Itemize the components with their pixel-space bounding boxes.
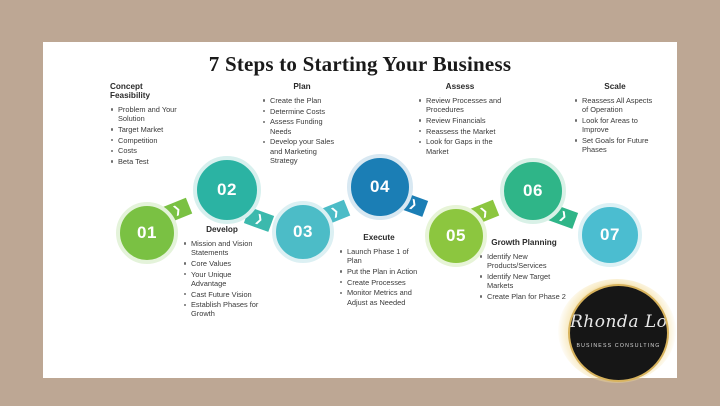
step-bullets-01: Problem and Your Solution Target Market … bbox=[110, 105, 182, 166]
list-item: Create Processes bbox=[339, 278, 419, 287]
chevron-right-icon: ❯ bbox=[330, 207, 340, 219]
step-column-06: Growth Planning Identify New Products/Se… bbox=[479, 238, 569, 303]
list-item: Develop your Sales and Marketing Strateg… bbox=[262, 137, 342, 165]
list-item: Target Market bbox=[110, 125, 182, 134]
page-title: 7 Steps to Starting Your Business bbox=[43, 52, 677, 77]
step-circle-01[interactable]: 01 bbox=[116, 202, 178, 264]
list-item: Establish Phases for Growth bbox=[183, 300, 261, 318]
logo-tagline: BUSINESS CONSULTING bbox=[570, 343, 667, 349]
step-heading-04: Execute bbox=[339, 233, 419, 242]
step-heading-06: Growth Planning bbox=[479, 238, 569, 247]
list-item: Cast Future Vision bbox=[183, 290, 261, 299]
step-column-03: Plan Create the Plan Determine Costs Ass… bbox=[262, 82, 342, 166]
list-item: Review Processes and Procedures bbox=[418, 96, 502, 114]
list-item: Review Financials bbox=[418, 116, 502, 125]
step-circle-03[interactable]: 03 bbox=[272, 201, 334, 263]
step-circle-02[interactable]: 02 bbox=[193, 156, 261, 224]
step-bullets-05: Review Processes and Procedures Review F… bbox=[418, 96, 502, 156]
list-item: Your Unique Advantage bbox=[183, 270, 261, 288]
step-circle-05[interactable]: 05 bbox=[425, 205, 487, 267]
list-item: Look for Gaps in the Market bbox=[418, 137, 502, 155]
step-column-07: Scale Reassess All Aspects of Operation … bbox=[574, 82, 656, 156]
list-item: Problem and Your Solution bbox=[110, 105, 182, 123]
step-heading-03: Plan bbox=[262, 82, 342, 91]
step-column-02: Develop Mission and Vision Statements Co… bbox=[183, 225, 261, 320]
chevron-right-icon: ❯ bbox=[254, 214, 264, 226]
list-item: Assess Funding Needs bbox=[262, 117, 342, 135]
step-heading-07: Scale bbox=[574, 82, 656, 91]
list-item: Launch Phase 1 of Plan bbox=[339, 247, 419, 265]
list-item: Mission and Vision Statements bbox=[183, 239, 261, 257]
chevron-right-icon: ❯ bbox=[558, 211, 568, 223]
list-item: Monitor Metrics and Adjust as Needed bbox=[339, 288, 419, 306]
logo-name: Rhonda Lowe bbox=[570, 312, 667, 332]
step-circle-04[interactable]: 04 bbox=[347, 154, 413, 220]
list-item: Identify New Target Markets bbox=[479, 272, 569, 290]
slide-canvas: 7 Steps to Starting Your Business Concep… bbox=[0, 0, 720, 406]
step-column-05: Assess Review Processes and Procedures R… bbox=[418, 82, 502, 157]
chevron-right-icon: ❯ bbox=[172, 205, 182, 217]
list-item: Reassess All Aspects of Operation bbox=[574, 96, 656, 114]
step-bullets-06: Identify New Products/Services Identify … bbox=[479, 252, 569, 301]
list-item: Set Goals for Future Phases bbox=[574, 136, 656, 154]
list-item: Put the Plan in Action bbox=[339, 267, 419, 276]
list-item: Competition bbox=[110, 136, 182, 145]
logo-disc: Rhonda Lowe BUSINESS CONSULTING bbox=[568, 284, 669, 382]
step-heading-05: Assess bbox=[418, 82, 502, 91]
list-item: Look for Areas to Improve bbox=[574, 116, 656, 134]
step-heading-02: Develop bbox=[183, 225, 261, 234]
list-item: Determine Costs bbox=[262, 107, 342, 116]
list-item: Identify New Products/Services bbox=[479, 252, 569, 270]
step-bullets-07: Reassess All Aspects of Operation Look f… bbox=[574, 96, 656, 154]
step-bullets-04: Launch Phase 1 of Plan Put the Plan in A… bbox=[339, 247, 419, 307]
list-item: Costs bbox=[110, 146, 182, 155]
step-column-01: Concept Feasibility Problem and Your Sol… bbox=[110, 82, 182, 168]
step-heading-01: Concept Feasibility bbox=[110, 82, 182, 100]
step-bullets-02: Mission and Vision Statements Core Value… bbox=[183, 239, 261, 319]
brand-logo: Rhonda Lowe BUSINESS CONSULTING bbox=[558, 279, 676, 383]
step-column-04: Execute Launch Phase 1 of Plan Put the P… bbox=[339, 233, 419, 308]
list-item: Create Plan for Phase 2 bbox=[479, 292, 569, 301]
step-bullets-03: Create the Plan Determine Costs Assess F… bbox=[262, 96, 342, 165]
step-circle-07[interactable]: 07 bbox=[578, 203, 642, 267]
list-item: Create the Plan bbox=[262, 96, 342, 105]
list-item: Reassess the Market bbox=[418, 127, 502, 136]
list-item: Core Values bbox=[183, 259, 261, 268]
list-item: Beta Test bbox=[110, 157, 182, 166]
step-circle-06[interactable]: 06 bbox=[500, 158, 566, 224]
